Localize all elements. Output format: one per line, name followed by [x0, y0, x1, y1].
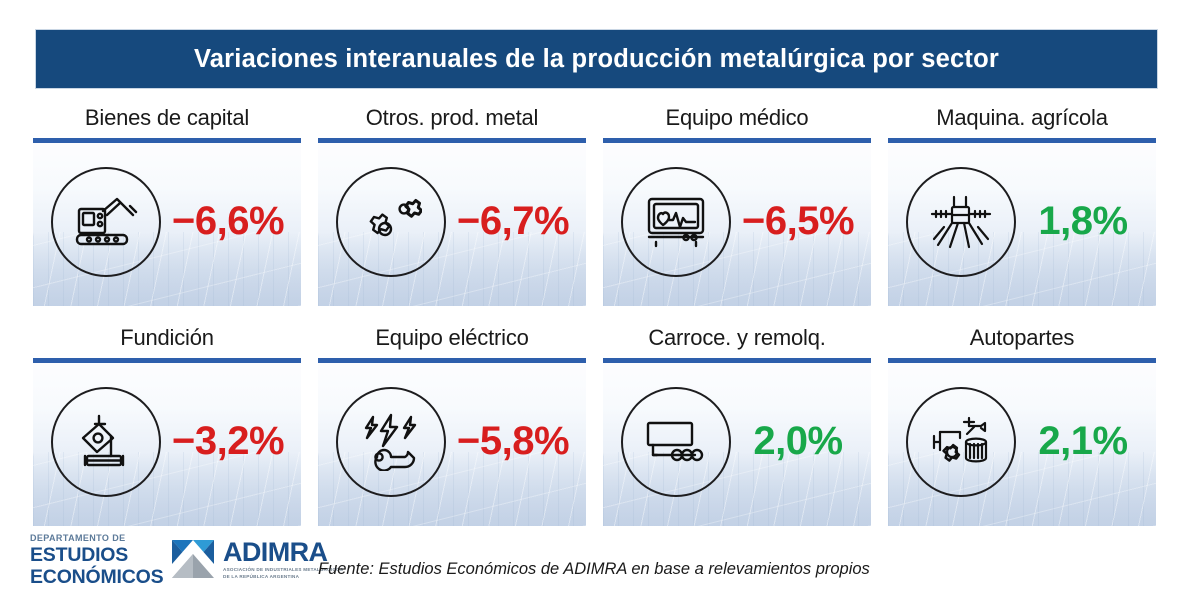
sector-card-otros-prod-metal: Otros. prod. metal −6,7%: [318, 98, 586, 306]
card-title: Fundición: [33, 318, 301, 358]
icon-circle: [51, 167, 161, 277]
electric-bolt-wrench-icon: [359, 413, 423, 471]
source-note: Fuente: Estudios Económicos de ADIMRA en…: [318, 560, 870, 579]
sector-card-carrocerias-remolques: Carroce. y remolq.: [603, 318, 871, 526]
card-value: −6,7%: [446, 199, 586, 244]
card-body: −6,5%: [603, 138, 871, 306]
card-body: 2,0%: [603, 358, 871, 526]
card-body: −5,8%: [318, 358, 586, 526]
gears-icon: [360, 193, 422, 251]
dept-logo-line3: ECONÓMICOS: [30, 568, 163, 588]
card-value: 1,8%: [1016, 199, 1156, 244]
trailer-icon: [643, 418, 709, 466]
sector-card-equipo-medico: Equipo médico: [603, 98, 871, 306]
icon-circle: [621, 167, 731, 277]
title-banner: Variaciones interanuales de la producció…: [36, 30, 1157, 88]
card-body: −6,6%: [33, 138, 301, 306]
card-value: −5,8%: [446, 419, 586, 464]
card-body: −6,7%: [318, 138, 586, 306]
sector-card-autopartes: Autopartes: [888, 318, 1156, 526]
card-title: Bienes de capital: [33, 98, 301, 138]
page-title: Variaciones interanuales de la producció…: [194, 45, 999, 74]
foundry-ladle-icon: [75, 412, 137, 472]
card-title: Autopartes: [888, 318, 1156, 358]
card-value: −6,6%: [161, 199, 301, 244]
card-body: 1,8%: [888, 138, 1156, 306]
agricultural-sprayer-icon: [928, 193, 994, 251]
icon-circle: [336, 387, 446, 497]
icon-circle: [906, 167, 1016, 277]
dept-logo-line1: DEPARTAMENTO DE: [30, 534, 163, 543]
sector-card-equipo-electrico: Equipo eléctrico: [318, 318, 586, 526]
icon-circle: [621, 387, 731, 497]
card-title: Maquina. agrícola: [888, 98, 1156, 138]
card-value: 2,0%: [731, 419, 871, 464]
card-body: 2,1%: [888, 358, 1156, 526]
card-value: −3,2%: [161, 419, 301, 464]
card-title: Carroce. y remolq.: [603, 318, 871, 358]
card-title: Equipo médico: [603, 98, 871, 138]
card-value: −6,5%: [731, 199, 871, 244]
infographic-page: Variaciones interanuales de la producció…: [0, 0, 1200, 613]
icon-circle: [336, 167, 446, 277]
icon-circle: [906, 387, 1016, 497]
sector-card-maquinaria-agricola: Maquina. agrícola: [888, 98, 1156, 306]
footer: DEPARTAMENTO DE ESTUDIOS ECONÓMICOS ADIM…: [0, 528, 1200, 613]
card-title: Equipo eléctrico: [318, 318, 586, 358]
adimra-mark-icon: [170, 536, 216, 582]
card-body: −3,2%: [33, 358, 301, 526]
sector-cards-grid: Bienes de capital: [33, 98, 1167, 526]
dept-logo-line2: ESTUDIOS: [30, 546, 163, 566]
card-title: Otros. prod. metal: [318, 98, 586, 138]
auto-parts-icon: [928, 414, 994, 470]
card-value: 2,1%: [1016, 419, 1156, 464]
sector-card-fundicion: Fundición: [33, 318, 301, 526]
sector-card-bienes-de-capital: Bienes de capital: [33, 98, 301, 306]
icon-circle: [51, 387, 161, 497]
departamento-estudios-economicos-logo: DEPARTAMENTO DE ESTUDIOS ECONÓMICOS: [30, 534, 163, 587]
robot-arm-icon: [73, 193, 139, 251]
heart-monitor-icon: [644, 194, 708, 250]
